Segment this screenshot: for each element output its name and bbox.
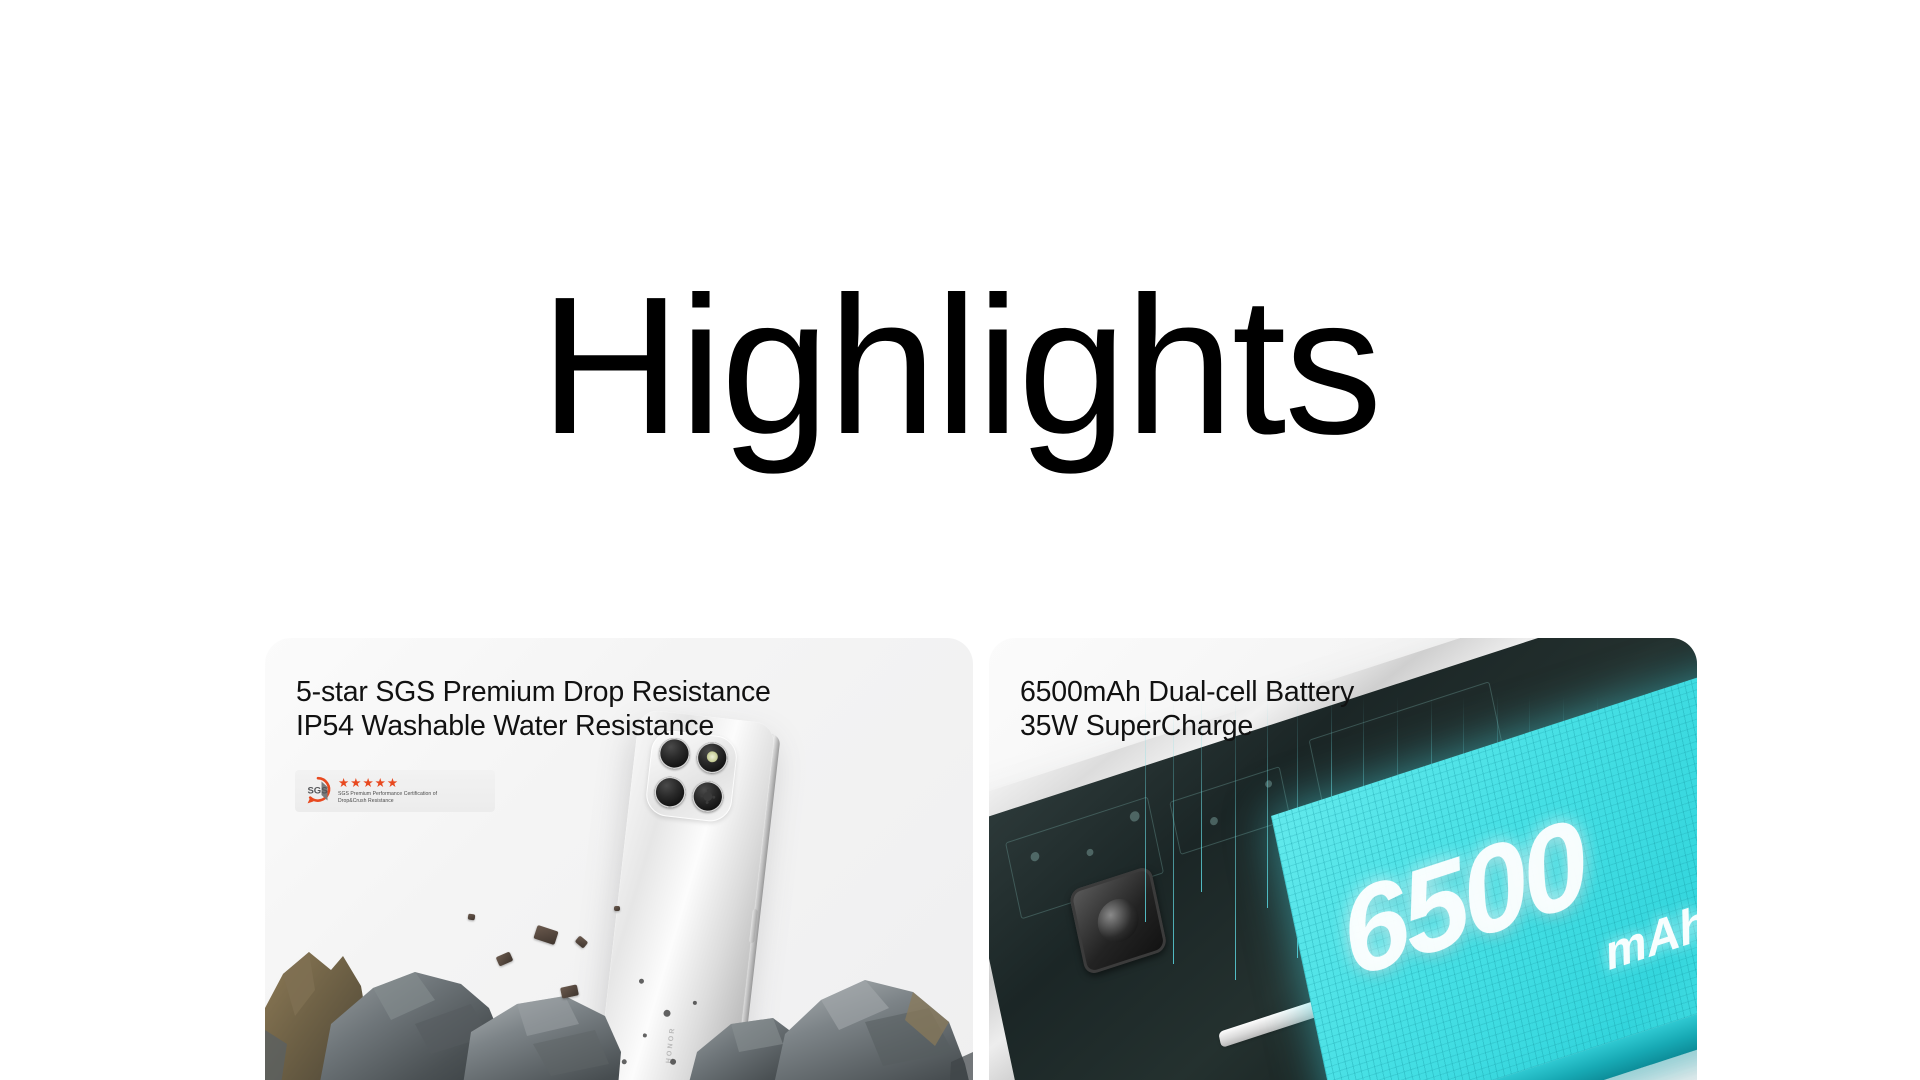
battery-capacity-unit: mAh	[1600, 895, 1697, 982]
sgs-certification-badge: SGS ★ ★ ★ ★ ★ SGS Premium Performance Ce…	[295, 770, 495, 812]
battery-capacity-value: 6500	[1331, 801, 1595, 997]
debris-chunk	[614, 906, 620, 911]
star-icon: ★	[375, 777, 386, 790]
highlight-card-drop-resistance[interactable]: 5-star SGS Premium Drop Resistance IP54 …	[265, 638, 973, 1080]
star-icon: ★	[338, 777, 349, 790]
star-icon: ★	[387, 777, 398, 790]
highlight-card-battery[interactable]: 6500mAh Dual-cell Battery 35W SuperCharg…	[989, 638, 1697, 1080]
svg-text:SGS: SGS	[307, 786, 327, 797]
star-icon: ★	[350, 777, 361, 790]
camera-lens-icon	[691, 779, 725, 813]
card-heading-drop-resistance: 5-star SGS Premium Drop Resistance IP54 …	[296, 676, 771, 744]
card-heading-line-2: IP54 Washable Water Resistance	[296, 710, 771, 744]
camera-lens-icon	[653, 775, 687, 809]
sgs-badge-text: ★ ★ ★ ★ ★ SGS Premium Performance Certif…	[338, 777, 437, 806]
sgs-caption-line-1: SGS Premium Performance Certification of	[338, 791, 437, 798]
rock-formation	[265, 912, 973, 1080]
highlights-page: Highlights 5-star SGS Premium Drop Resis…	[0, 0, 1920, 1080]
card-heading-line-1: 6500mAh Dual-cell Battery	[1020, 676, 1354, 710]
sgs-logo-icon: SGS	[301, 774, 335, 808]
debris-chunk	[468, 914, 476, 921]
card-heading-line-1: 5-star SGS Premium Drop Resistance	[296, 676, 771, 710]
card-heading-line-2: 35W SuperCharge	[1020, 710, 1354, 744]
highlights-card-grid: 5-star SGS Premium Drop Resistance IP54 …	[265, 638, 1697, 1080]
card-heading-battery: 6500mAh Dual-cell Battery 35W SuperCharg…	[1020, 676, 1354, 744]
page-title: Highlights	[0, 268, 1920, 464]
sgs-caption-line-2: Drop&Crush Resistance	[338, 798, 437, 805]
camera-lens-icon	[695, 741, 729, 775]
star-icon: ★	[362, 777, 373, 790]
sgs-star-rating: ★ ★ ★ ★ ★	[338, 777, 437, 790]
